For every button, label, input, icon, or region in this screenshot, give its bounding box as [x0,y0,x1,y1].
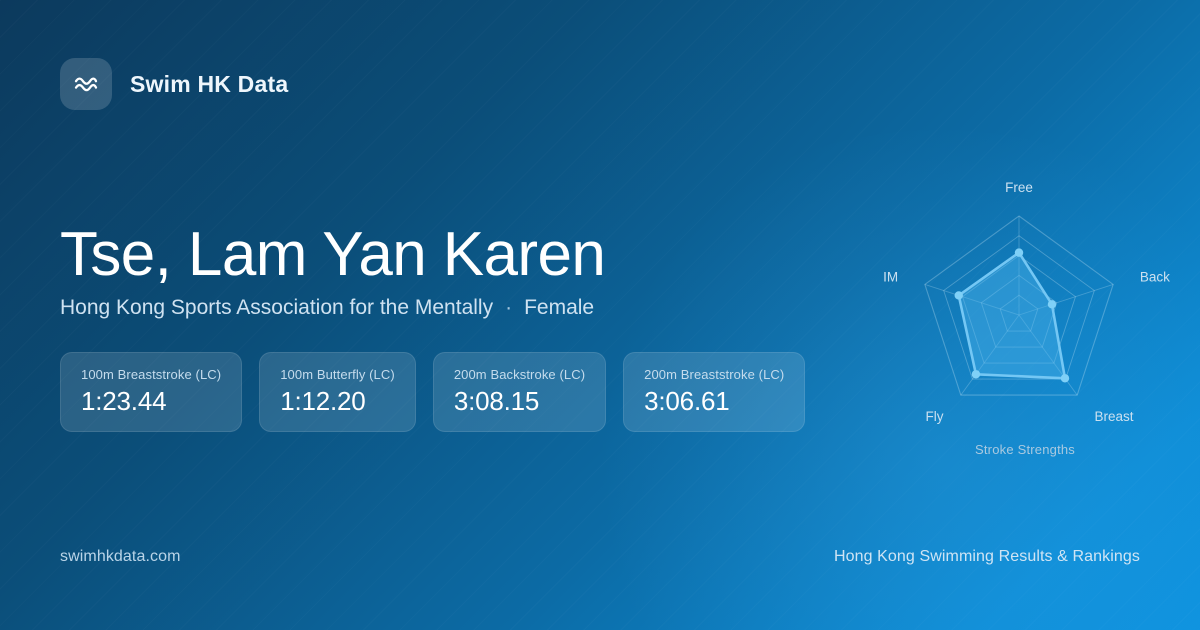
radar-axis-label-back: Back [1140,269,1170,284]
athlete-club: Hong Kong Sports Association for the Men… [60,296,493,320]
event-chip[interactable]: 100m Butterfly (LC) 1:12.20 [259,352,416,432]
radar-data-point [1015,248,1023,256]
athlete-meta: Hong Kong Sports Association for the Men… [60,296,594,320]
event-time: 3:08.15 [454,388,585,415]
meta-separator: · [503,296,514,320]
event-time: 1:23.44 [81,388,221,415]
event-time: 3:06.61 [644,388,784,415]
radar-data-area [959,253,1065,379]
radar-axis-label-fly: Fly [926,409,944,424]
page-title: Tse, Lam Yan Karen [60,222,605,287]
wave-icon [60,58,112,110]
brand-name: Swim HK Data [130,71,288,98]
event-label: 200m Backstroke (LC) [454,367,585,382]
event-time: 1:12.20 [280,388,395,415]
event-label: 100m Breaststroke (LC) [81,367,221,382]
radar-data-point [955,291,963,299]
radar-axis-label-free: Free [1005,180,1033,195]
radar-data-point [972,370,980,378]
social-share-card: Swim HK Data Tse, Lam Yan Karen Hong Kon… [0,0,1200,630]
event-chip[interactable]: 100m Breaststroke (LC) 1:23.44 [60,352,242,432]
event-label: 200m Breaststroke (LC) [644,367,784,382]
radar-data-point [1048,300,1056,308]
radar-axis-label-breast: Breast [1095,409,1134,424]
event-chip-list: 100m Breaststroke (LC) 1:23.44 100m Butt… [60,352,805,432]
chart-caption: Stroke Strengths [880,442,1170,457]
footer-tagline: Hong Kong Swimming Results & Rankings [834,548,1140,566]
footer-site-url[interactable]: swimhkdata.com [60,548,181,566]
event-chip[interactable]: 200m Breaststroke (LC) 3:06.61 [623,352,805,432]
radar-data-point [1061,374,1069,382]
stroke-strengths-radar-chart: FreeBackBreastFlyIM Stroke Strengths [880,170,1170,470]
radar-axis-label-im: IM [883,269,898,284]
brand-lockup[interactable]: Swim HK Data [60,58,288,110]
athlete-gender: Female [524,296,594,320]
event-chip[interactable]: 200m Backstroke (LC) 3:08.15 [433,352,606,432]
event-label: 100m Butterfly (LC) [280,367,395,382]
